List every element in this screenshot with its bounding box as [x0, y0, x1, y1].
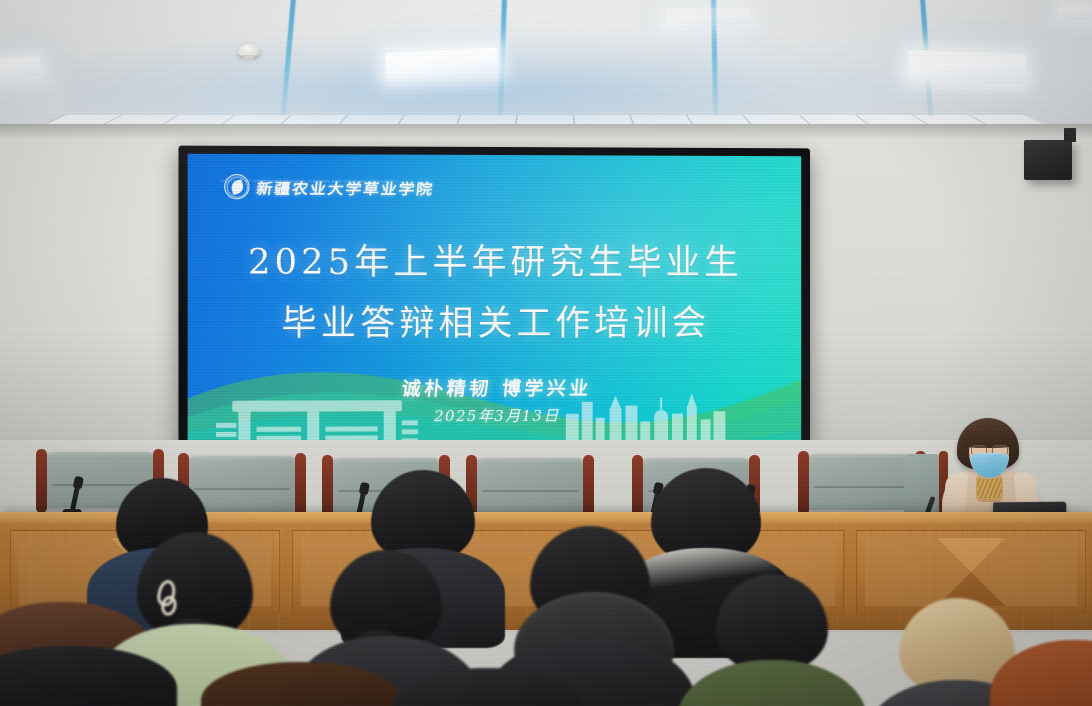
- audience-member: [684, 574, 860, 706]
- slide-title-line-1: 2025年上半年研究生毕业生: [188, 233, 802, 285]
- ceiling-light-panel: [908, 50, 1027, 84]
- audience-front-rows: [0, 470, 1092, 706]
- ceiling: [0, 0, 1092, 132]
- audience-member: [206, 662, 396, 706]
- ceiling-light-panel: [0, 57, 40, 80]
- slide-date: 2025年3月13日: [188, 404, 802, 427]
- smoke-detector-icon: [238, 44, 260, 57]
- audience-member: [1000, 620, 1092, 706]
- ceiling-light-panel: [1057, 2, 1092, 21]
- torso: [990, 640, 1092, 706]
- torso: [677, 660, 867, 706]
- university-logo-subtext: COLLEGE OF GRASSLAND SCIENCE, XINJIANG A…: [221, 179, 398, 184]
- university-seal-icon: [224, 174, 249, 199]
- led-display-panel[interactable]: 新疆农业大学草业学院 COLLEGE OF GRASSLAND SCIENCE,…: [178, 146, 810, 465]
- head: [716, 574, 828, 672]
- audience-member: [398, 668, 578, 706]
- audience-member: [0, 646, 170, 706]
- torso: [0, 646, 177, 706]
- university-logo: 新疆农业大学草业学院: [224, 174, 434, 200]
- wall-speaker: [1024, 140, 1072, 180]
- wall-ceiling-shadow: [0, 124, 1092, 140]
- presentation-slide: 新疆农业大学草业学院 COLLEGE OF GRASSLAND SCIENCE,…: [188, 154, 802, 456]
- torso: [201, 662, 401, 706]
- torso: [393, 668, 583, 706]
- slide-motto: 诚朴精韧 博学兴业: [188, 373, 802, 401]
- conference-room-photo: 新疆农业大学草业学院 COLLEGE OF GRASSLAND SCIENCE,…: [0, 0, 1092, 706]
- slide-title-line-2: 毕业答辩相关工作培训会: [188, 295, 802, 346]
- ceiling-light-panel: [666, 7, 751, 28]
